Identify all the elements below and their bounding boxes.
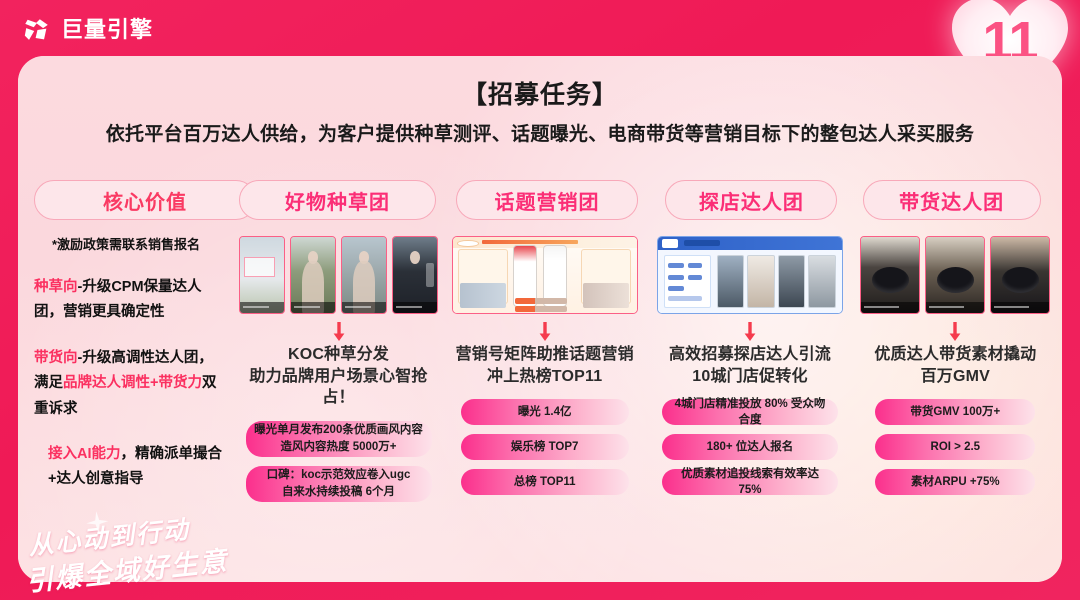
page-title: 【招募任务】 xyxy=(18,80,1062,110)
title-block: 【招募任务】 依托平台百万达人供给，为客户提供种草测评、话题曝光、电商带货等营销… xyxy=(18,80,1062,146)
stat-pill: 180+ 位达人报名 xyxy=(662,434,838,460)
down-arrow-icon xyxy=(743,322,757,342)
caption-good-goods: KOC种草分发 助力品牌用户场景心智抢占！ xyxy=(239,344,438,409)
stat-pill: 素材ARPU +75% xyxy=(875,469,1035,495)
caption-line-2: 10城门店促转化 xyxy=(651,366,848,388)
stat-pill-line-1: 口碑：koc示范效应卷入ugc xyxy=(267,469,411,481)
ocean-engine-swirl-icon xyxy=(22,15,52,45)
column-store-visit: 探店达人团 xyxy=(651,180,848,570)
core-value-item-2-highlight-2: 品牌达人调性+带货力 xyxy=(63,375,202,391)
caption-store-visit: 高效招募探店达人引流 10城门店促转化 xyxy=(651,344,848,387)
column-header-topic-marketing: 话题营销团 xyxy=(456,180,638,220)
down-arrow-icon xyxy=(332,322,346,342)
stat-pill-line-1: 素材ARPU +75% xyxy=(911,474,1000,491)
case-screenshot-topic-marketing[interactable] xyxy=(452,236,638,314)
caption-line-1: KOC种草分发 xyxy=(239,344,438,366)
column-sales-talent: 带货达人团 优质达人带货素材撬动 百万GMV 带货GMV 100万+ ROI >… xyxy=(857,180,1054,570)
stat-pill-line-1: 4城门店精准投放 80% 受众吻合度 xyxy=(670,396,830,429)
column-header-sales-talent: 带货达人团 xyxy=(863,180,1041,220)
column-header-core-value: 核心价值 xyxy=(34,180,256,220)
down-arrow-icon xyxy=(948,322,962,342)
stat-pill-line-2: 自来水持续投稿 6个月 xyxy=(282,486,395,498)
core-value-item-2-highlight: 带货向 xyxy=(34,350,78,366)
columns-container: 核心价值 *激励政策需联系销售报名 种草向-升级CPM保量达人团，营销更具确定性… xyxy=(26,180,1054,570)
stat-pill: 总榜 TOP11 xyxy=(461,469,629,495)
stat-pill: 4城门店精准投放 80% 受众吻合度 xyxy=(662,399,838,425)
column-header-good-goods: 好物种草团 xyxy=(239,180,436,220)
core-value-item-3: 接入AI能力，精确派单撮合+达人创意指导 xyxy=(34,442,227,493)
stat-pill: 带货GMV 100万+ xyxy=(875,399,1035,425)
stat-pill-line-1: 曝光单月发布200条优质画风内容 xyxy=(254,424,423,436)
pill-list-sales-talent: 带货GMV 100万+ ROI > 2.5 素材ARPU +75% xyxy=(857,399,1054,495)
caption-sales-talent: 优质达人带货素材撬动 百万GMV xyxy=(857,344,1054,387)
core-value-body: *激励政策需联系销售报名 种草向-升级CPM保量达人团，营销更具确定性 带货向-… xyxy=(26,220,231,493)
pill-list-good-goods: 曝光单月发布200条优质画风内容 造风内容热度 5000万+ 口碑：koc示范效… xyxy=(239,421,438,502)
core-value-item-2: 带货向-升级高调性达人团，满足品牌达人调性+带货力双重诉求 xyxy=(34,346,227,422)
pill-list-store-visit: 4城门店精准投放 80% 受众吻合度 180+ 位达人报名 优质素材追投线索有效… xyxy=(651,399,848,495)
stat-pill: 曝光单月发布200条优质画风内容 造风内容热度 5000万+ xyxy=(246,421,432,457)
thumbnail-image[interactable] xyxy=(990,236,1050,314)
stat-pill-line-1: 娱乐榜 TOP7 xyxy=(511,439,579,456)
column-topic-marketing: 话题营销团 营销号矩阵助推话题营销 xyxy=(446,180,643,570)
down-arrow-icon xyxy=(538,322,552,342)
stat-pill-line-1: 总榜 TOP11 xyxy=(514,474,576,491)
caption-line-2: 百万GMV xyxy=(857,366,1054,388)
thumbnail-image[interactable] xyxy=(925,236,985,314)
thumbnail-image[interactable] xyxy=(239,236,285,314)
caption-line-1: 高效招募探店达人引流 xyxy=(651,344,848,366)
core-value-note: *激励政策需联系销售报名 xyxy=(34,234,227,253)
thumbnail-image[interactable] xyxy=(392,236,438,314)
stat-pill-line-1: 带货GMV 100万+ xyxy=(910,404,1000,421)
stat-pill: 优质素材追投线索有效率达 75% xyxy=(662,469,838,495)
column-core-value: 核心价值 *激励政策需联系销售报名 种草向-升级CPM保量达人团，营销更具确定性… xyxy=(26,180,231,570)
stat-pill: 娱乐榜 TOP7 xyxy=(461,434,629,460)
brand-logo: 巨量引擎 xyxy=(22,15,153,45)
stat-pill: 口碑：koc示范效应卷入ugc 自来水持续投稿 6个月 xyxy=(246,466,432,502)
stat-pill-line-1: 优质素材追投线索有效率达 75% xyxy=(670,466,830,499)
caption-line-2: 冲上热榜TOP11 xyxy=(446,366,643,388)
thumbnail-image[interactable] xyxy=(860,236,920,314)
page-subtitle: 依托平台百万达人供给，为客户提供种草测评、话题曝光、电商带货等营销目标下的整包达… xyxy=(18,119,1062,146)
stat-pill: 曝光 1.4亿 xyxy=(461,399,629,425)
thumbnail-image[interactable] xyxy=(341,236,387,314)
stat-pill-line-1: 曝光 1.4亿 xyxy=(518,404,572,421)
content-card: 【招募任务】 依托平台百万达人供给，为客户提供种草测评、话题曝光、电商带货等营销… xyxy=(18,56,1062,582)
column-header-store-visit: 探店达人团 xyxy=(665,180,837,220)
thumbnail-image[interactable] xyxy=(290,236,336,314)
core-value-item-1-highlight: 种草向 xyxy=(34,279,78,295)
caption-line-2: 助力品牌用户场景心智抢占！ xyxy=(239,366,438,409)
case-screenshot-store-visit[interactable] xyxy=(657,236,843,314)
caption-topic-marketing: 营销号矩阵助推话题营销 冲上热榜TOP11 xyxy=(446,344,643,387)
pill-list-topic-marketing: 曝光 1.4亿 娱乐榜 TOP7 总榜 TOP11 xyxy=(446,399,643,495)
stat-pill-line-1: ROI > 2.5 xyxy=(931,439,981,456)
stat-pill-line-2: 造风内容热度 5000万+ xyxy=(281,441,397,453)
stat-pill: ROI > 2.5 xyxy=(875,434,1035,460)
core-value-item-3-highlight: 接入AI能力 xyxy=(48,446,121,462)
brand-name: 巨量引擎 xyxy=(61,19,153,41)
top-bar: 巨量引擎 xyxy=(0,0,1080,60)
column-good-goods: 好物种草团 KOC种草分发 助力品牌用户场景心智抢占！ xyxy=(239,180,438,570)
slide-root: 巨量引擎 11 【招募任务】 依托平台百万达人供给，为客户提供种草测评、话题曝光… xyxy=(0,0,1080,600)
thumbnail-row-good-goods xyxy=(239,236,438,314)
caption-line-1: 优质达人带货素材撬动 xyxy=(857,344,1054,366)
caption-line-1: 营销号矩阵助推话题营销 xyxy=(446,344,643,366)
thumbnail-row-sales-talent xyxy=(857,236,1054,314)
core-value-item-1: 种草向-升级CPM保量达人团，营销更具确定性 xyxy=(34,275,227,326)
stat-pill-line-1: 180+ 位达人报名 xyxy=(707,439,794,456)
